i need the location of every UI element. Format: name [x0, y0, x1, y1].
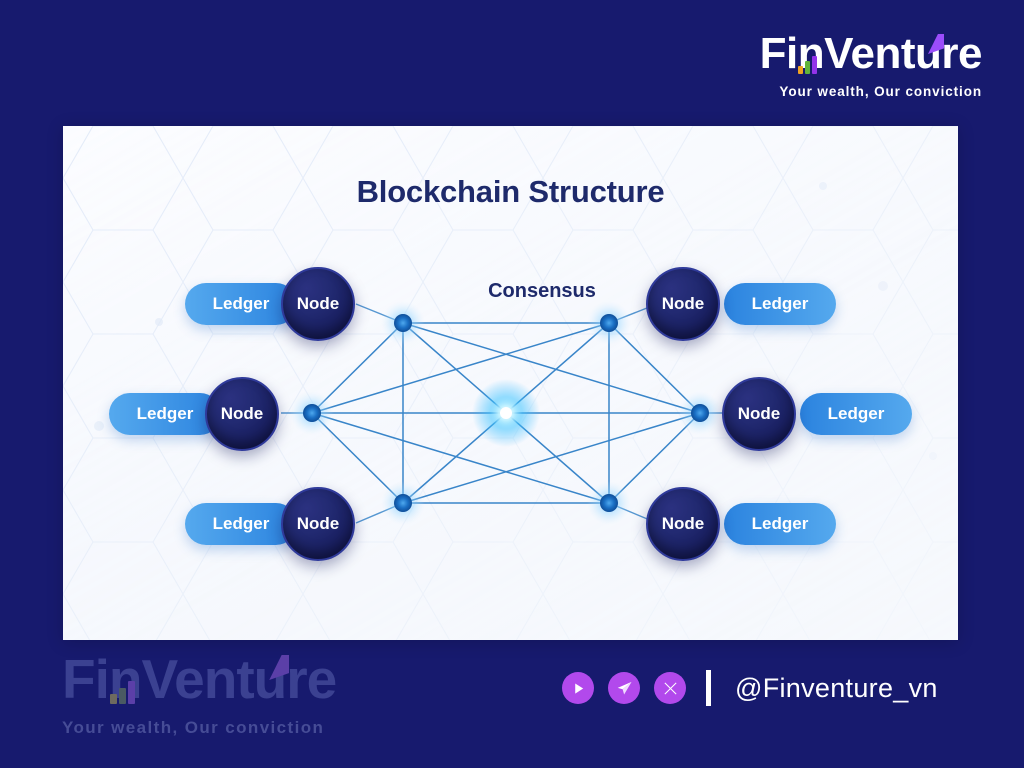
consensus-label: Consensus [452, 280, 632, 303]
diagram-card: Blockchain Structure [63, 126, 958, 640]
youtube-play-icon[interactable] [562, 672, 594, 704]
footer-divider [706, 670, 711, 706]
header-brand-logo: FinVenture Your wealth, Our conviction [760, 32, 982, 99]
node-left-top[interactable]: Node [281, 267, 355, 341]
bar-green [805, 61, 810, 74]
bar-chart-icon [798, 56, 817, 74]
social-links: @Finventure_vn [562, 670, 938, 706]
node-right-bottom[interactable]: Node [646, 487, 720, 561]
footer-bar-chart-icon [110, 681, 135, 704]
bar-orange [798, 66, 803, 74]
telegram-send-icon[interactable] [608, 672, 640, 704]
brand-tagline: Your wealth, Our conviction [760, 85, 982, 99]
node-right-top[interactable]: Node [646, 267, 720, 341]
node-right-middle[interactable]: Node [722, 377, 796, 451]
footer-brand-logo: FinVenture Your wealth, Our conviction [62, 652, 336, 736]
brand-name-venture: Venture [824, 29, 982, 78]
footer-brand-wordmark: FinVenture [62, 652, 336, 707]
brand-wordmark: FinVenture [760, 32, 982, 76]
footer-brand-name-venture: Venture [141, 648, 336, 710]
x-twitter-icon[interactable] [654, 672, 686, 704]
footer-bar-green [119, 688, 126, 704]
ledger-right-top[interactable]: Ledger [724, 283, 836, 325]
node-left-bottom[interactable]: Node [281, 487, 355, 561]
footer-brand-tagline: Your wealth, Our conviction [62, 719, 336, 736]
network-mesh [63, 126, 958, 640]
node-left-middle[interactable]: Node [205, 377, 279, 451]
bar-purple [812, 56, 817, 74]
ledger-right-bottom[interactable]: Ledger [724, 503, 836, 545]
footer-bar-purple [128, 681, 135, 704]
footer-bar-orange [110, 694, 117, 704]
social-handle[interactable]: @Finventure_vn [735, 673, 938, 704]
ledger-right-middle[interactable]: Ledger [800, 393, 912, 435]
